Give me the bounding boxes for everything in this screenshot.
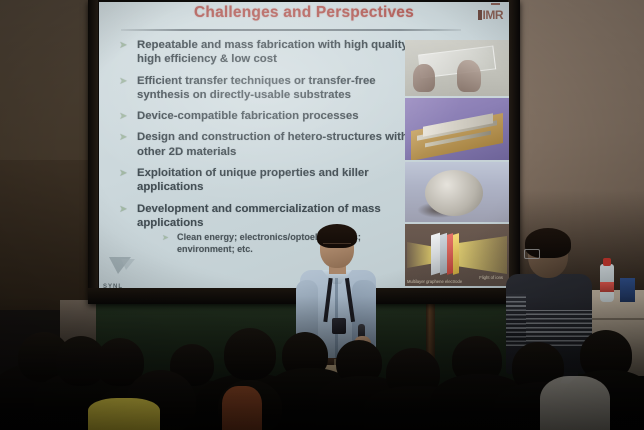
bullet-arrow-icon: ➤: [119, 75, 127, 89]
slide-title: Challenges and Perspectives: [99, 4, 509, 22]
person-right-glasses-icon: [524, 249, 540, 259]
figure-graphene-sphere-sample: [405, 162, 509, 222]
audience-orange-shirt: [222, 386, 262, 430]
bullet-item: ➤ Design and construction of hetero-stru…: [115, 130, 415, 159]
light-beam-left: [407, 242, 433, 268]
imr-logo: IMR: [478, 8, 504, 22]
sub-bullet-arrow-icon: ➤: [162, 232, 169, 244]
hand-left-shape: [413, 64, 435, 92]
audience-yellow-shirt: [88, 398, 160, 430]
bullet-text: Design and construction of hetero-struct…: [137, 131, 408, 157]
optic-layer-2: [440, 233, 447, 275]
bullet-item: ➤ Repeatable and mass fabrication with h…: [115, 38, 415, 67]
presenter-glasses-icon: [323, 243, 351, 250]
lecture-hall-photo: Challenges and Perspectives IMR ➤ Repeat…: [0, 0, 644, 430]
bullet-text: Exploitation of unique properties and ki…: [137, 167, 369, 193]
audience-white-shirt: [540, 376, 610, 430]
bullet-arrow-icon: ➤: [119, 131, 127, 145]
bullet-arrow-icon: ➤: [119, 110, 127, 124]
figure-caption-left: Multilayer graphene electrode: [407, 279, 462, 284]
synl-triangle-glyph: [105, 254, 139, 278]
wall-left-lower: [0, 160, 96, 310]
figure-layered-optical-device: Multilayer graphene electrode Flight of …: [405, 224, 509, 286]
hand-right-shape: [457, 60, 481, 92]
sphere-shape: [425, 170, 483, 216]
imr-logo-tick: [491, 3, 500, 9]
bullet-item: ➤ Exploitation of unique properties and …: [115, 166, 415, 195]
bullet-text: Device-compatible fabrication processes: [137, 110, 359, 122]
optic-layer-1: [431, 233, 440, 276]
screen-edge-left: [88, 0, 98, 304]
bullet-arrow-icon: ➤: [119, 167, 127, 181]
synl-logo-icon: [105, 254, 139, 288]
figure-hands-holding-transparent-film: [405, 40, 509, 96]
figure-device-schematic-3d: [405, 98, 509, 160]
water-bottle-label: [600, 282, 614, 292]
imr-logo-text: IMR: [483, 8, 504, 22]
slide-figure-column: Multilayer graphene electrode Flight of …: [405, 40, 509, 288]
optic-layer-4: [453, 233, 459, 275]
bullet-arrow-icon: ➤: [119, 203, 127, 217]
bullet-text: Repeatable and mass fabrication with hig…: [137, 39, 410, 65]
bullet-arrow-icon: ➤: [119, 39, 127, 53]
water-bottle-cap: [603, 258, 611, 266]
bullet-text: Efficient transfer techniques or transfe…: [137, 75, 376, 101]
bullet-item: ➤ Device-compatible fabrication processe…: [115, 109, 415, 123]
title-divider-rule: [121, 29, 461, 31]
bullet-item: ➤ Efficient transfer techniques or trans…: [115, 74, 415, 103]
imr-logo-bar: [478, 10, 482, 20]
figure-caption-right: Flight of ions: [479, 275, 503, 280]
